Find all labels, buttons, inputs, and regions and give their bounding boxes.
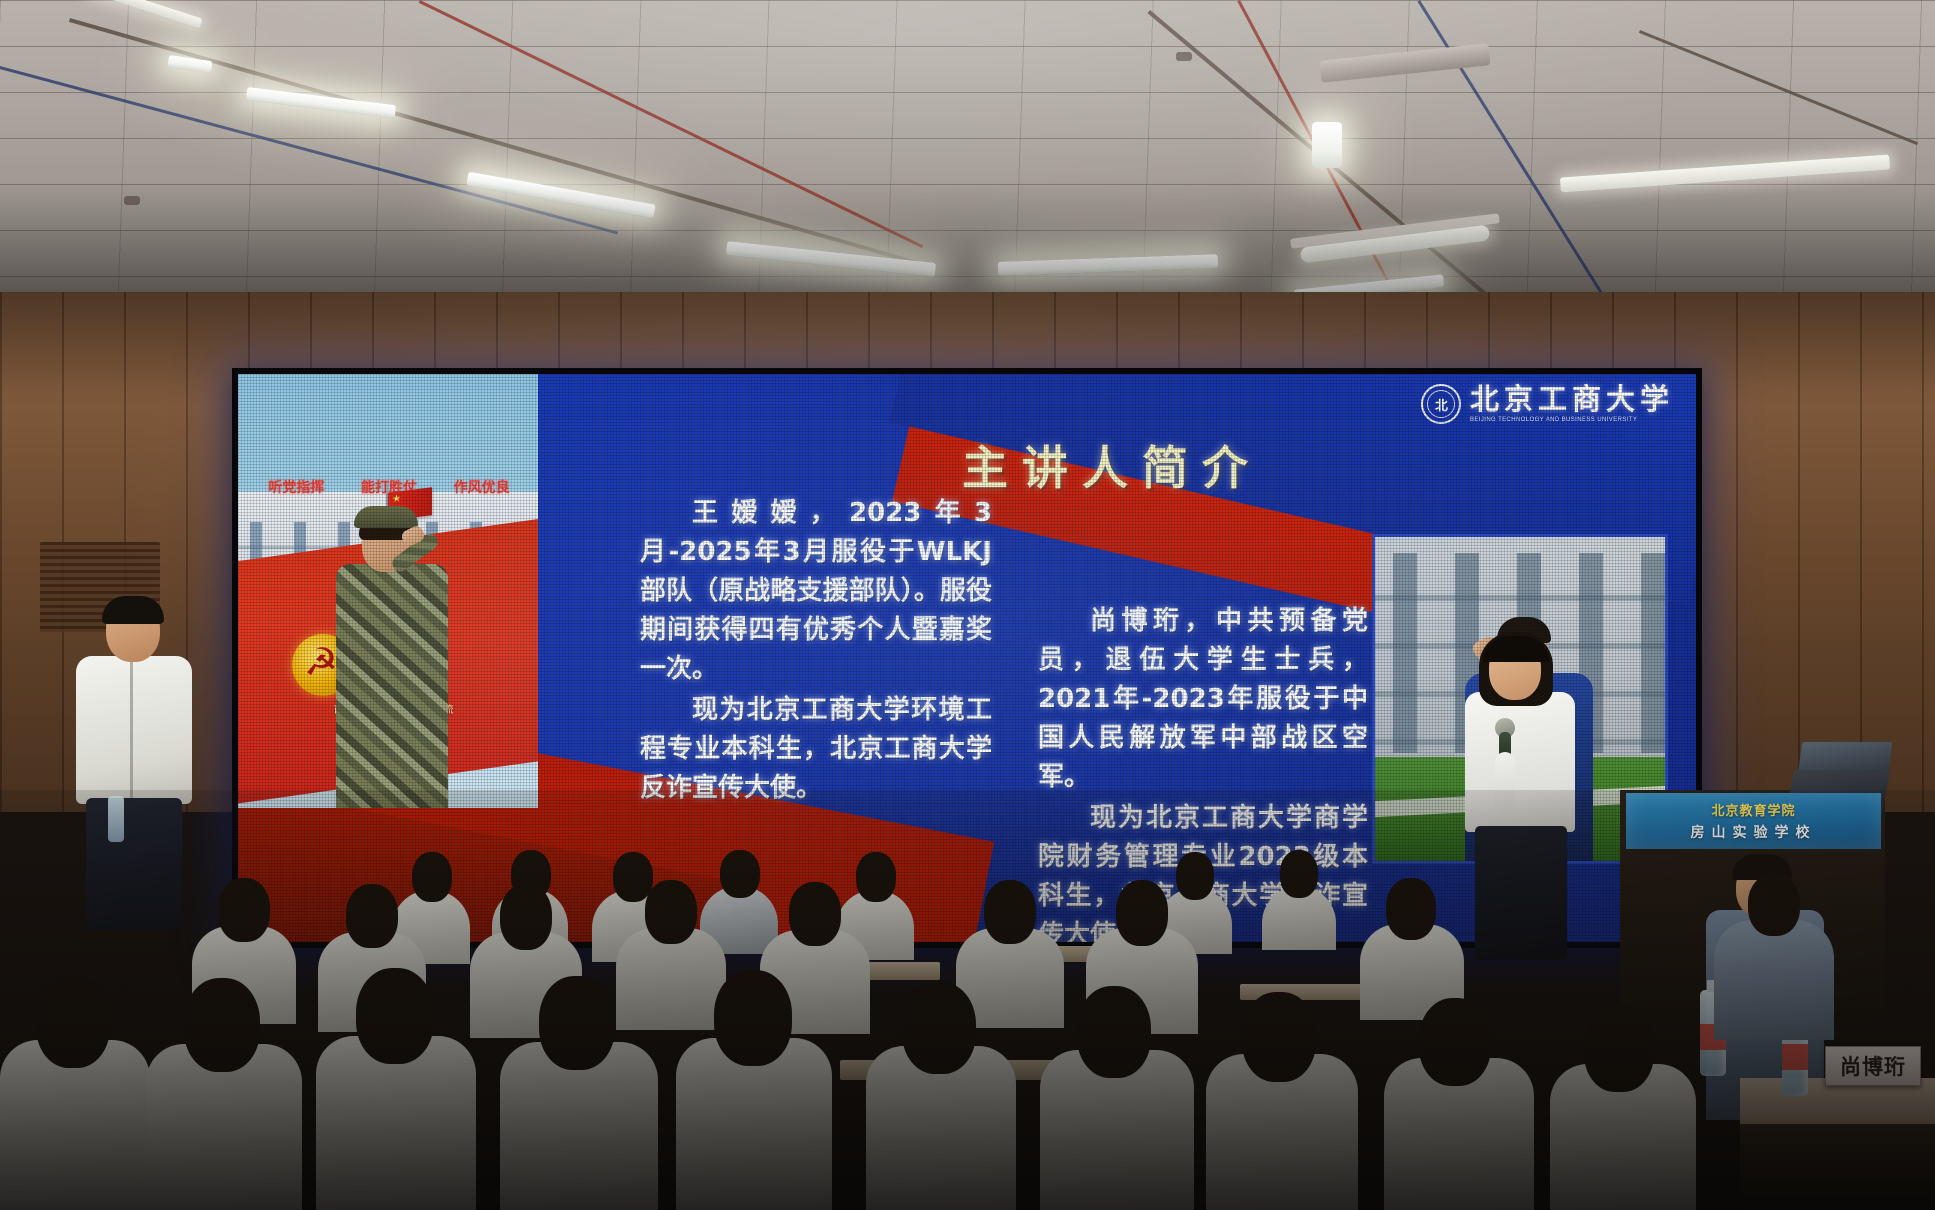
screenshot-root: 北 北京工商大学 BEIJING TECHNOLOGY AND BUSINESS…	[0, 0, 1935, 1210]
banner-word-1: 听党指挥	[268, 477, 324, 497]
bio-left-paragraph-1: 王嫒嫒，2023年3月-2025年3月服役于WLKJ部队（原战略支援部队）。服役…	[640, 494, 992, 689]
audience-area	[0, 790, 1935, 1210]
university-name-en: BEIJING TECHNOLOGY AND BUSINESS UNIVERSI…	[1470, 417, 1674, 423]
slide-photo-left: 听党指挥 能打胜仗 作风优良 首届武警战士团结向一流	[238, 374, 538, 808]
university-name-cn: 北京工商大学	[1470, 385, 1674, 414]
university-logo: 北 北京工商大学 BEIJING TECHNOLOGY AND BUSINESS…	[1421, 384, 1674, 424]
bio-right-paragraph-1: 尚博珩，中共预备党员，退伍大学生士兵，2021年-2023年服役于中国人民解放军…	[1038, 602, 1368, 797]
soldier-camouflage-uniform	[336, 564, 448, 808]
audience-shading	[0, 790, 1935, 1210]
presenter-male-hair	[102, 596, 164, 624]
university-seal-icon: 北	[1421, 384, 1461, 424]
speaker-bio-left: 王嫒嫒，2023年3月-2025年3月服役于WLKJ部队（原战略支援部队）。服役…	[640, 494, 992, 810]
ceiling	[0, 0, 1935, 300]
presenter-male-shirt	[76, 656, 192, 804]
banner-word-3: 作风优良	[454, 477, 510, 497]
soldier-cap	[354, 506, 418, 528]
ceiling-shading	[0, 0, 1935, 300]
photo-left-soldier	[332, 508, 450, 808]
university-seal-glyph: 北	[1435, 395, 1447, 414]
